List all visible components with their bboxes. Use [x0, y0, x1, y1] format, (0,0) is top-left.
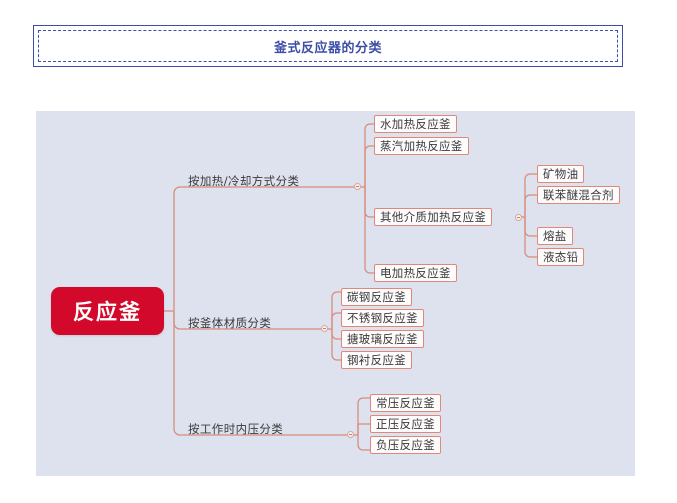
leaf-label: 碳钢反应釜 — [347, 290, 406, 304]
title-banner-inner-border: 釜式反应器的分类 — [38, 30, 618, 62]
leaf-node-negative-pressure[interactable]: 负压反应釜 — [370, 436, 441, 454]
mindmap-canvas[interactable]: 反应釜 按加热/冷却方式分类 水加热反应釜 蒸汽加热反应釜 其他介质加热反应釜 … — [36, 111, 635, 476]
leaf-label: 联苯醚混合剂 — [543, 188, 614, 202]
leaf-node-other-medium-heated[interactable]: 其他介质加热反应釜 — [374, 208, 492, 226]
leaf-label: 负压反应釜 — [376, 438, 435, 452]
collapse-handle-icon[interactable] — [354, 183, 361, 190]
page-title: 釜式反应器的分类 — [274, 37, 382, 56]
leaf-node-molten-salt[interactable]: 熔盐 — [537, 227, 573, 245]
leaf-node-steel-lined[interactable]: 钢衬反应釜 — [341, 351, 412, 369]
leaf-node-mineral-oil[interactable]: 矿物油 — [537, 165, 584, 183]
collapse-handle-icon[interactable] — [347, 431, 354, 438]
collapse-handle-icon[interactable] — [515, 214, 522, 221]
branch-node-internal-pressure[interactable]: 按工作时内压分类 — [188, 421, 283, 437]
branch-label: 按釜体材质分类 — [188, 315, 271, 331]
leaf-node-glass-lined[interactable]: 搪玻璃反应釜 — [341, 330, 424, 348]
branch-node-vessel-material[interactable]: 按釜体材质分类 — [188, 315, 271, 331]
leaf-node-steam-heated[interactable]: 蒸汽加热反应釜 — [374, 137, 469, 155]
leaf-node-stainless-steel[interactable]: 不锈钢反应釜 — [341, 309, 424, 327]
leaf-node-positive-pressure[interactable]: 正压反应釜 — [370, 415, 441, 433]
leaf-label: 其他介质加热反应釜 — [380, 210, 486, 224]
leaf-label: 搪玻璃反应釜 — [347, 332, 418, 346]
leaf-node-carbon-steel[interactable]: 碳钢反应釜 — [341, 288, 412, 306]
leaf-label: 蒸汽加热反应釜 — [380, 139, 463, 153]
leaf-label: 水加热反应釜 — [380, 117, 451, 131]
leaf-label: 常压反应釜 — [376, 396, 435, 410]
leaf-node-liquid-lead[interactable]: 液态铅 — [537, 248, 584, 266]
root-node-label: 反应釜 — [73, 296, 142, 326]
root-node[interactable]: 反应釜 — [51, 287, 164, 335]
branch-label: 按加热/冷却方式分类 — [188, 173, 299, 189]
leaf-label: 矿物油 — [543, 167, 578, 181]
branch-node-heating-cooling[interactable]: 按加热/冷却方式分类 — [188, 173, 299, 189]
leaf-node-electric-heated[interactable]: 电加热反应釜 — [374, 264, 457, 282]
leaf-label: 钢衬反应釜 — [347, 353, 406, 367]
leaf-label: 不锈钢反应釜 — [347, 311, 418, 325]
leaf-label: 熔盐 — [543, 229, 567, 243]
title-banner: 釜式反应器的分类 — [33, 25, 623, 67]
leaf-label: 液态铅 — [543, 250, 578, 264]
leaf-label: 电加热反应釜 — [380, 266, 451, 280]
branch-label: 按工作时内压分类 — [188, 421, 283, 437]
leaf-label: 正压反应釜 — [376, 417, 435, 431]
collapse-handle-icon[interactable] — [321, 325, 328, 332]
leaf-node-normal-pressure[interactable]: 常压反应釜 — [370, 394, 441, 412]
leaf-node-water-heated[interactable]: 水加热反应釜 — [374, 115, 457, 133]
leaf-node-diphenyl-ether-mixture[interactable]: 联苯醚混合剂 — [537, 186, 620, 204]
